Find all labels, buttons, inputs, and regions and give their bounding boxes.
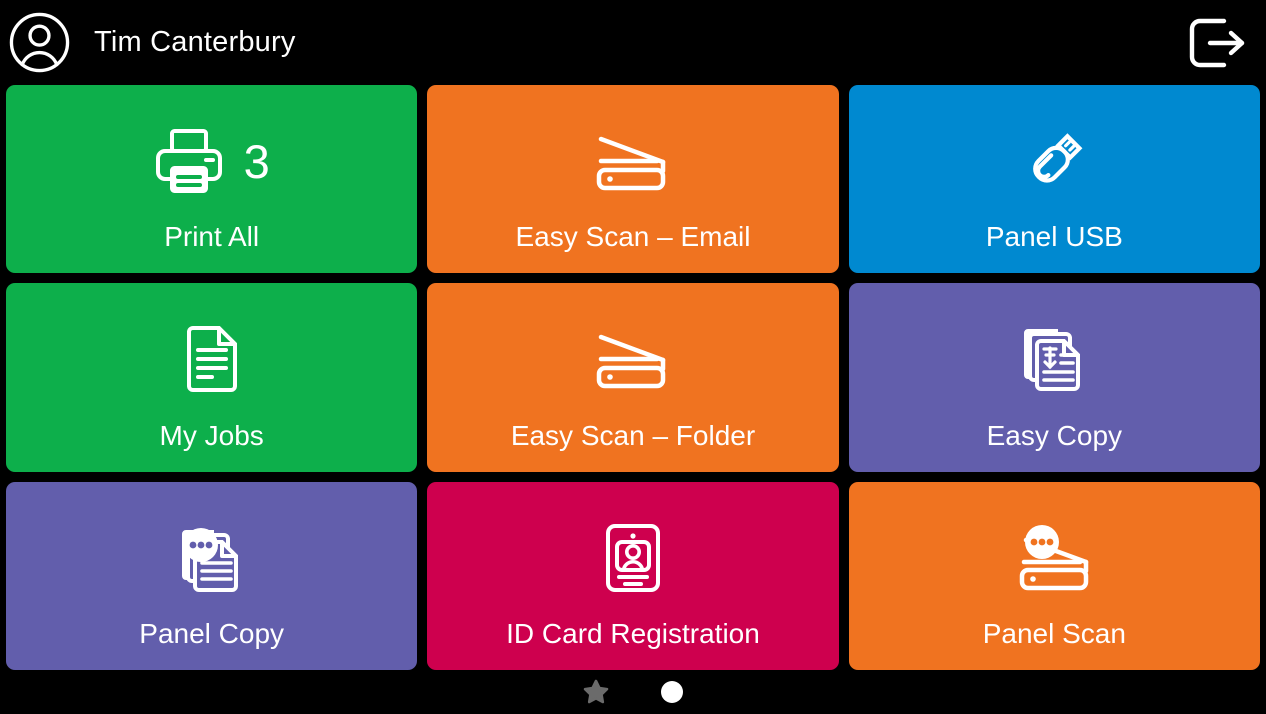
tile-label: Easy Scan – Folder: [427, 422, 838, 472]
user-name-label: Tim Canterbury: [94, 26, 296, 59]
id-card-icon: [604, 523, 662, 593]
usb-drive-icon: [1019, 126, 1089, 196]
tile-label: Panel USB: [849, 223, 1260, 273]
print-job-count-badge: 3: [244, 138, 270, 185]
tile-label: ID Card Registration: [427, 620, 838, 670]
tile-icon-row: [849, 482, 1260, 620]
tile-easy-copy[interactable]: Easy Copy: [849, 283, 1260, 471]
tile-label: Easy Copy: [849, 422, 1260, 472]
tile-easy-scan-email[interactable]: Easy Scan – Email: [427, 85, 838, 273]
page-dot-icon[interactable]: [661, 681, 683, 703]
copy-docs-icon: [1020, 325, 1088, 393]
user-avatar-icon: [8, 11, 71, 74]
star-icon[interactable]: [583, 679, 609, 705]
printer-icon: [154, 128, 224, 194]
tile-icon-row: [427, 85, 838, 223]
tile-icon-row: [427, 283, 838, 421]
tile-label: Panel Scan: [849, 620, 1260, 670]
tile-label: My Jobs: [6, 422, 417, 472]
tile-icon-row: [427, 482, 838, 620]
tile-label: Panel Copy: [6, 620, 417, 670]
tile-panel-copy[interactable]: Panel Copy: [6, 482, 417, 670]
tile-icon-row: [849, 283, 1260, 421]
tile-icon-row: [849, 85, 1260, 223]
scanner-icon: [595, 129, 671, 193]
tile-icon-row: [6, 283, 417, 421]
logout-icon[interactable]: [1184, 15, 1248, 71]
top-header-bar: Tim Canterbury: [0, 0, 1266, 85]
tile-id-card-registration[interactable]: ID Card Registration: [427, 482, 838, 670]
tile-print-all[interactable]: 3 Print All: [6, 85, 417, 273]
tile-panel-scan[interactable]: Panel Scan: [849, 482, 1260, 670]
scanner-icon: [595, 327, 671, 391]
mfp-panel-home-screen: Tim Canterbury 3 Print All: [0, 0, 1266, 714]
tile-icon-row: [6, 482, 417, 620]
panel-scan-icon: [1014, 522, 1094, 594]
panel-copy-icon: [176, 522, 248, 594]
tile-easy-scan-folder[interactable]: Easy Scan – Folder: [427, 283, 838, 471]
document-icon: [184, 325, 240, 393]
tile-label: Easy Scan – Email: [427, 223, 838, 273]
tile-panel-usb[interactable]: Panel USB: [849, 85, 1260, 273]
tile-label: Print All: [6, 223, 417, 273]
tile-grid: 3 Print All Easy Scan – Email: [0, 85, 1266, 670]
tile-icon-row: 3: [6, 85, 417, 223]
tile-my-jobs[interactable]: My Jobs: [6, 283, 417, 471]
page-indicator-bar: [0, 670, 1266, 714]
